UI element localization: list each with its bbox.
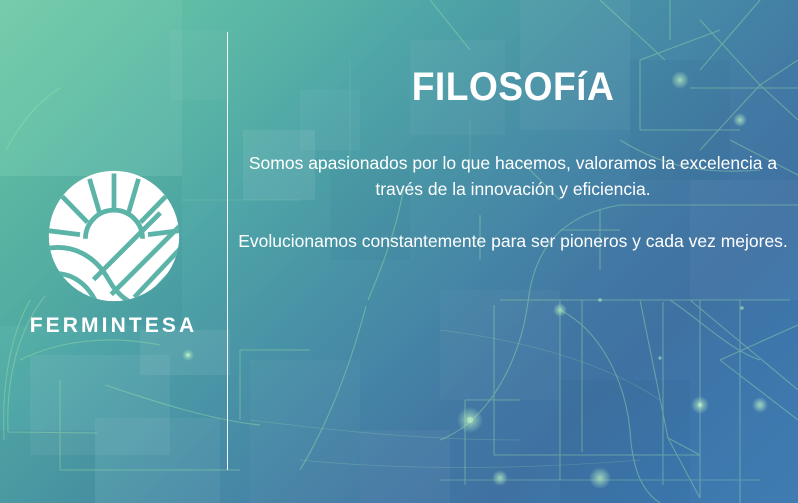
fermintesa-logo-icon bbox=[46, 168, 182, 304]
paragraph: Evolucionamos constantemente para ser pi… bbox=[228, 228, 798, 254]
paragraph: Somos apasionados por lo que hacemos, va… bbox=[228, 150, 798, 202]
body-copy: Somos apasionados por lo que hacemos, va… bbox=[228, 150, 798, 254]
philosophy-slide: FERMINTESA FILOSOFíA Somos apasionados p… bbox=[0, 0, 798, 503]
brand-panel: FERMINTESA bbox=[0, 0, 227, 503]
page-title: FILOSOFíA bbox=[248, 66, 778, 108]
brand-name: FERMINTESA bbox=[0, 315, 227, 336]
content-area: FILOSOFíA Somos apasionados por lo que h… bbox=[228, 0, 798, 503]
